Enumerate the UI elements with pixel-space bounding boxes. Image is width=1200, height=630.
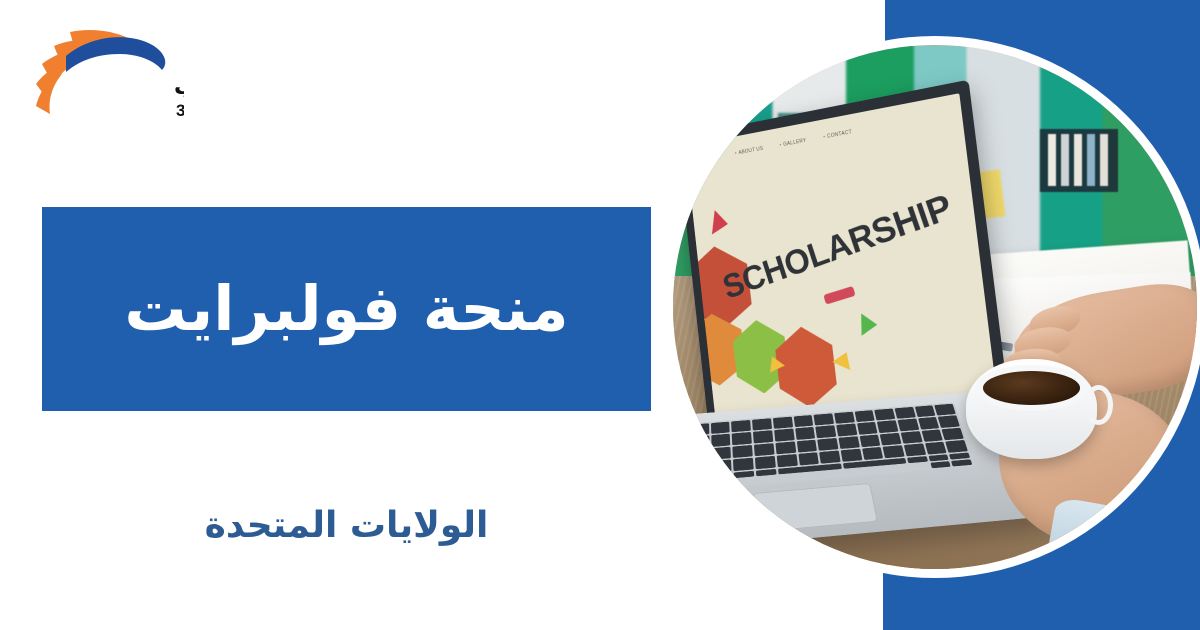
screen-heading: SCHOLARSHIP (718, 186, 956, 307)
laptop-lid: HOME ABOUT US GALLERY CONTACT SCHOLARSHI… (677, 80, 1010, 432)
logo-domain: 3RABG.COM (176, 101, 184, 120)
photo-ring: HOME ABOUT US GALLERY CONTACT SCHOLARSHI… (664, 36, 1200, 578)
screen-nav-item-contact: CONTACT (823, 129, 852, 140)
photo-circle: HOME ABOUT US GALLERY CONTACT SCHOLARSHI… (673, 45, 1197, 569)
page-title: منحة فولبرايت (124, 278, 568, 340)
decor-triangle-yellow (832, 349, 855, 371)
swoosh-icon (36, 30, 165, 114)
screen-nav-item-home: HOME (702, 153, 720, 162)
poster-canvas: HOME ABOUT US GALLERY CONTACT SCHOLARSHI… (0, 0, 1200, 630)
logo-svg: دليل الطالب 3RABG.COM (24, 20, 184, 140)
screen-nav: HOME ABOUT US GALLERY CONTACT (702, 111, 947, 162)
decor-triangle-red (712, 210, 729, 236)
screen-nav-item-about: ABOUT US (735, 145, 764, 156)
logo-name-ar: دليل الطالب (174, 75, 184, 100)
office-scene: HOME ABOUT US GALLERY CONTACT SCHOLARSHI… (673, 45, 1197, 569)
book (1074, 134, 1082, 186)
screen-nav-item-gallery: GALLERY (779, 137, 806, 148)
book (1087, 134, 1095, 186)
book (1100, 134, 1108, 186)
laptop-screen: HOME ABOUT US GALLERY CONTACT SCHOLARSHI… (685, 93, 998, 419)
coffee-cup (966, 359, 1097, 459)
title-banner: منحة فولبرايت (42, 207, 651, 411)
laptop-trackpad (753, 483, 878, 533)
laptop: HOME ABOUT US GALLERY CONTACT SCHOLARSHI… (673, 108, 1050, 559)
decor-triangle-green (861, 314, 877, 336)
book (1061, 134, 1069, 186)
laptop-keyboard (673, 403, 975, 493)
site-logo[interactable]: دليل الطالب 3RABG.COM (24, 20, 184, 140)
screen-accent-bar (823, 286, 855, 305)
page-subtitle: الولايات المتحدة (42, 505, 651, 546)
